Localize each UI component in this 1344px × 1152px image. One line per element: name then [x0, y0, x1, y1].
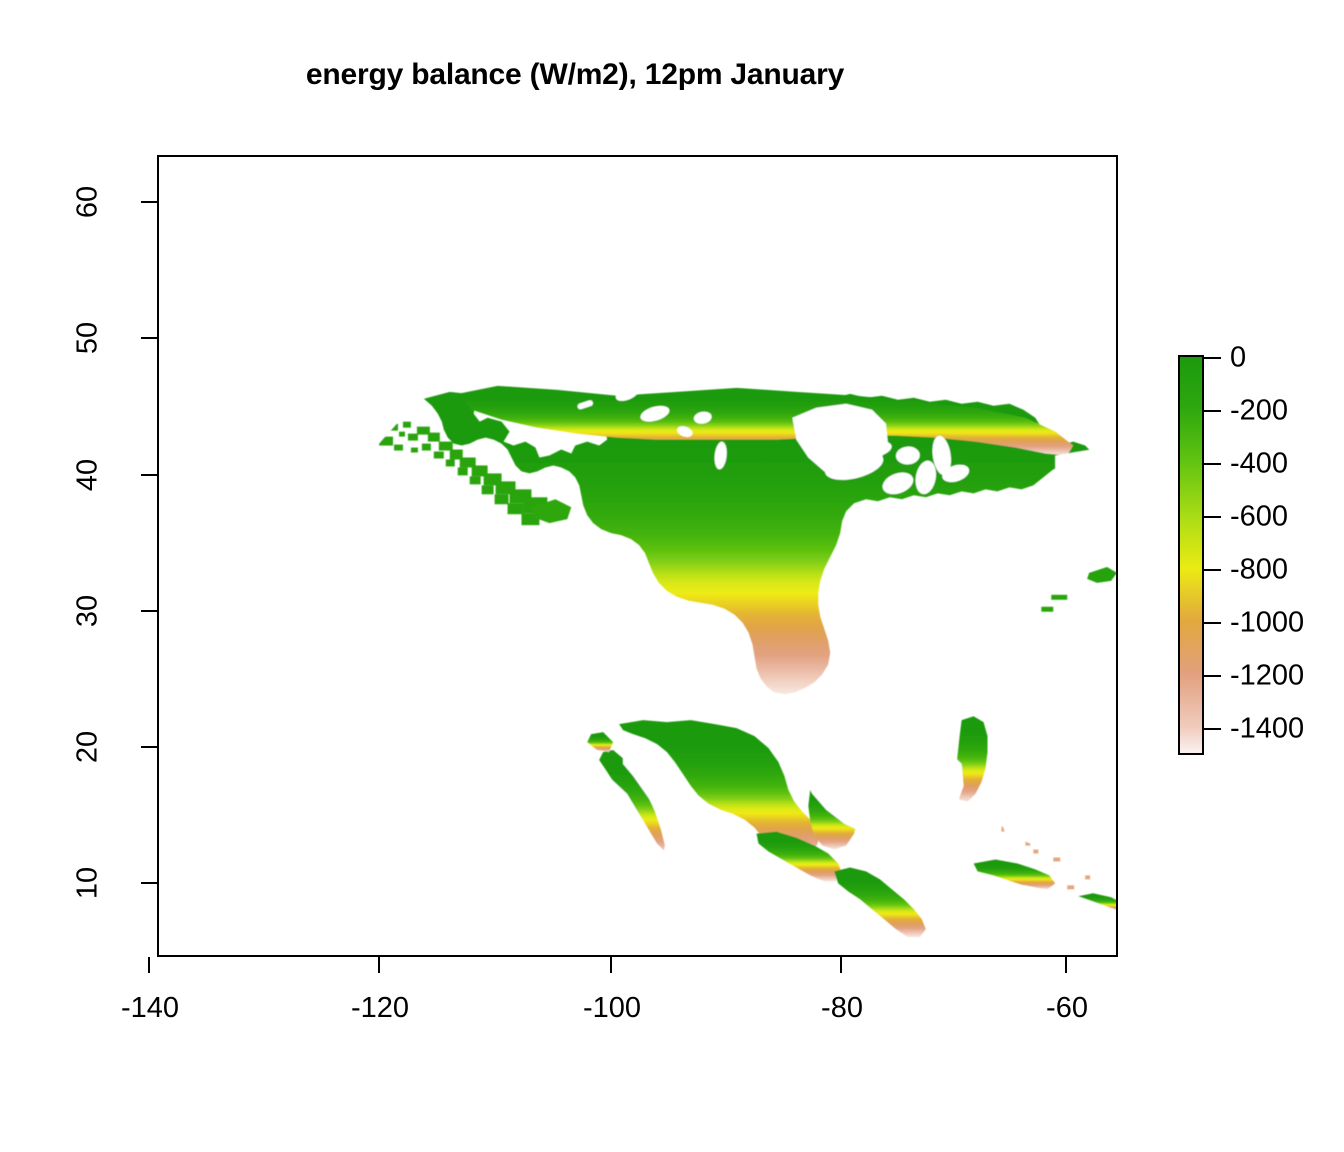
plot-frame	[157, 155, 1118, 957]
y-tick-30	[141, 610, 157, 612]
x-tick-1	[378, 957, 380, 973]
colorbar-label-3: -600	[1230, 501, 1288, 534]
colorbar-tick-2	[1204, 463, 1221, 465]
x-tick-label-0: -140	[121, 992, 179, 1025]
x-tick-label-3: -80	[821, 992, 863, 1025]
colorbar-label-4: -800	[1230, 554, 1288, 587]
x-tick-label-4: -60	[1046, 992, 1088, 1025]
y-tick-10	[141, 882, 157, 884]
colorbar-label-1: -200	[1230, 395, 1288, 428]
x-tick-4	[1065, 957, 1067, 973]
colorbar-tick-1	[1204, 410, 1221, 412]
colorbar-gradient	[1178, 355, 1204, 755]
plot-canvas: energy balance (W/m2), 12pm January	[0, 0, 1344, 1152]
colorbar-label-6: -1200	[1230, 660, 1304, 693]
colorbar-label-0: 0	[1230, 342, 1246, 375]
colorbar-tick-4	[1204, 569, 1221, 571]
y-tick-20	[141, 746, 157, 748]
x-tick-3	[840, 957, 842, 973]
x-tick-2	[610, 957, 612, 973]
colorbar-legend: 0 -200 -400 -600 -800 -1000 -1200 -1400	[1178, 355, 1204, 755]
page-title: energy balance (W/m2), 12pm January	[0, 58, 1150, 92]
y-tick-label-50: 50	[72, 322, 105, 354]
y-tick-label-20: 20	[72, 731, 105, 763]
y-tick-label-30: 30	[72, 595, 105, 627]
north-america-raster	[159, 157, 1116, 955]
x-tick-0	[148, 957, 150, 973]
y-tick-50	[141, 337, 157, 339]
nova-scotia	[1087, 567, 1116, 583]
colorbar-tick-0	[1204, 357, 1221, 359]
y-tick-label-10: 10	[72, 867, 105, 899]
central-america	[834, 867, 926, 937]
colorbar-label-5: -1000	[1230, 607, 1304, 640]
y-tick-label-60: 60	[72, 186, 105, 218]
coastal-voids	[159, 157, 1116, 955]
raster-map-layer	[159, 157, 1116, 955]
x-tick-label-1: -120	[351, 992, 409, 1025]
colorbar-label-7: -1400	[1230, 713, 1304, 746]
colorbar-tick-6	[1204, 675, 1221, 677]
y-tick-label-40: 40	[72, 459, 105, 491]
colorbar-label-2: -400	[1230, 448, 1288, 481]
y-tick-60	[141, 201, 157, 203]
colorbar-tick-3	[1204, 516, 1221, 518]
y-tick-40	[141, 474, 157, 476]
x-tick-label-2: -100	[583, 992, 641, 1025]
northeast-coastal-detail	[1041, 595, 1067, 612]
baja-upper	[587, 732, 613, 752]
colorbar-tick-5	[1204, 622, 1221, 624]
colorbar-tick-7	[1204, 728, 1221, 730]
